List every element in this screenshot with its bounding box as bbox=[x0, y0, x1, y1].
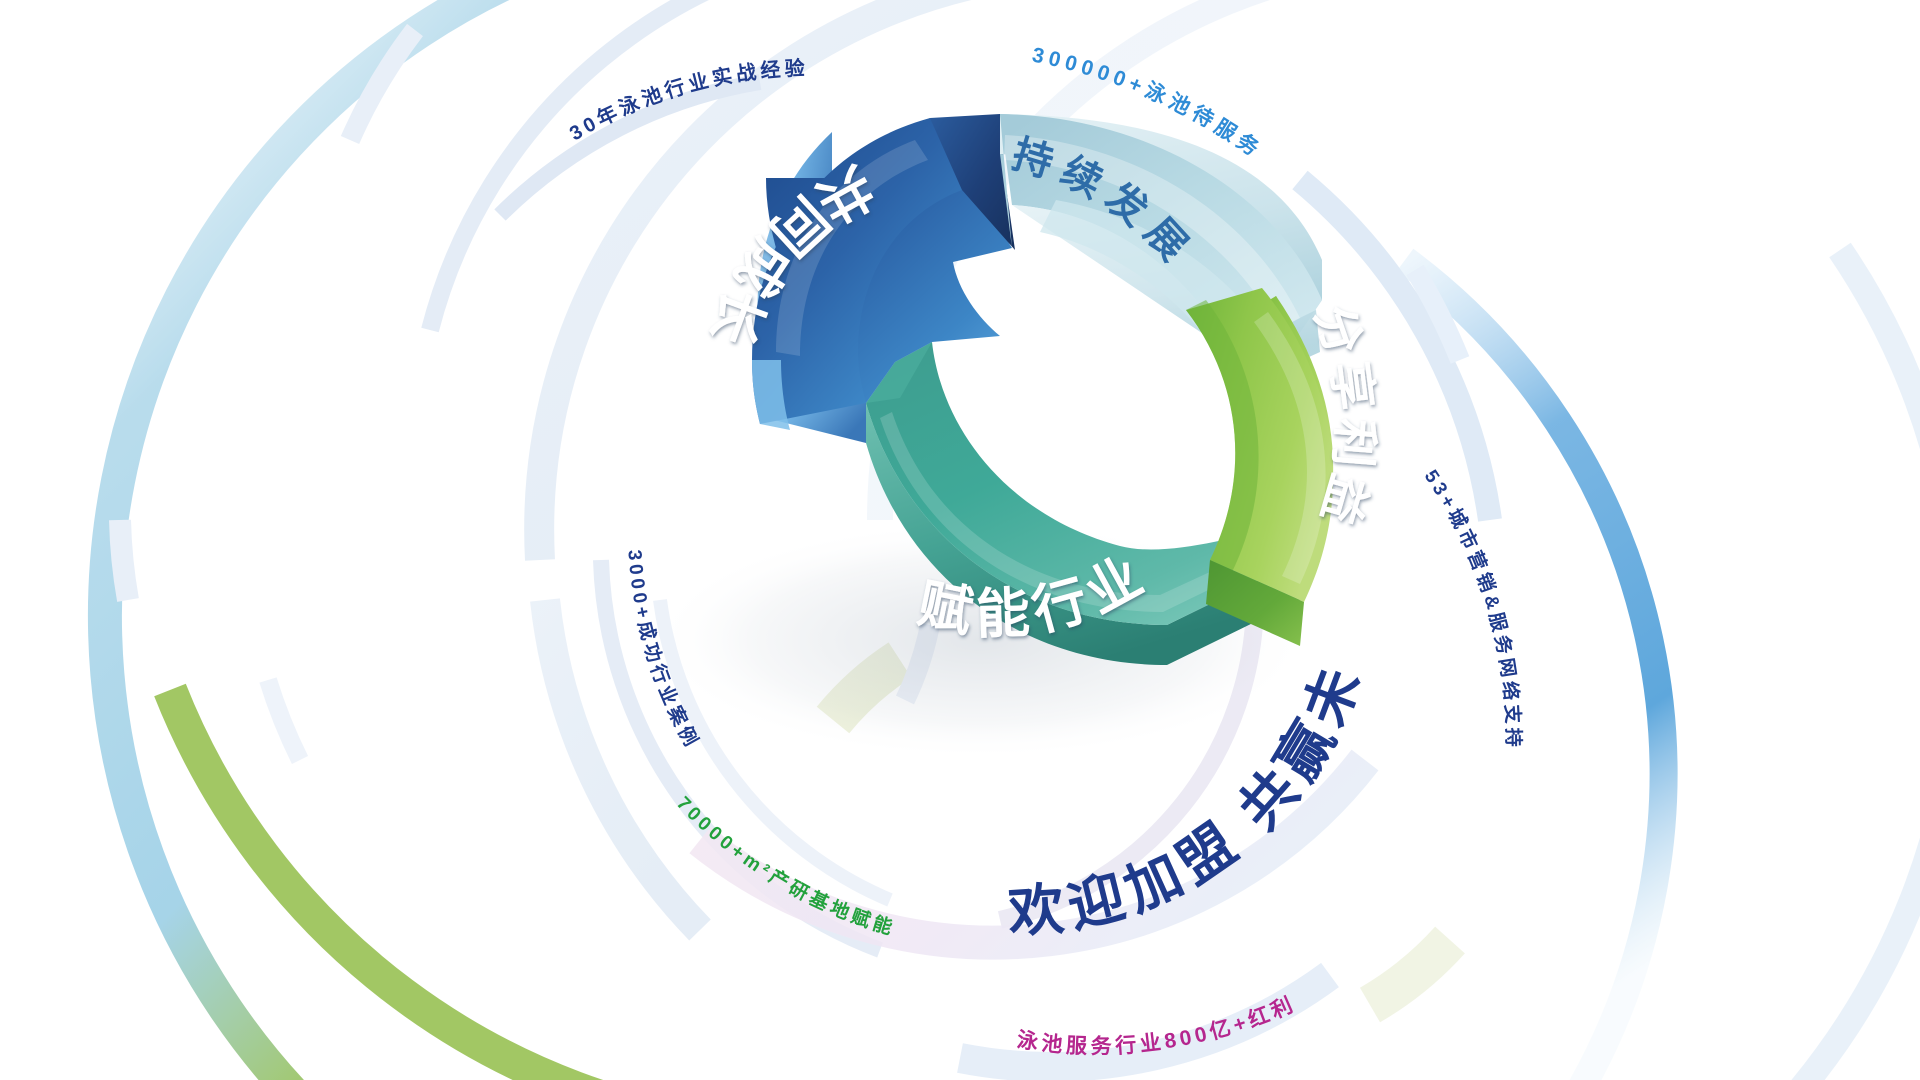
poster-canvas: 共同成长 持续发展 分享利益 赋能行业 30年泳池行业实战经验 300000+泳… bbox=[0, 0, 1920, 1080]
callout-market-text: 泳池服务行业800亿+红利 bbox=[1015, 992, 1299, 1058]
poster-svg: 共同成长 持续发展 分享利益 赋能行业 30年泳池行业实战经验 300000+泳… bbox=[0, 0, 1920, 1080]
callout-cities-text: 53+城市营销&服务网络支持 bbox=[1420, 466, 1525, 750]
bg-arc-yellow-2 bbox=[1370, 940, 1450, 1005]
bg-arc-blue-right-pale bbox=[1800, 250, 1920, 1080]
callout-market: 泳池服务行业800亿+红利 bbox=[1015, 992, 1299, 1058]
bg-tick-2 bbox=[120, 520, 128, 600]
callout-cities: 53+城市营销&服务网络支持 bbox=[1420, 466, 1525, 750]
bg-tick-3 bbox=[268, 680, 300, 760]
